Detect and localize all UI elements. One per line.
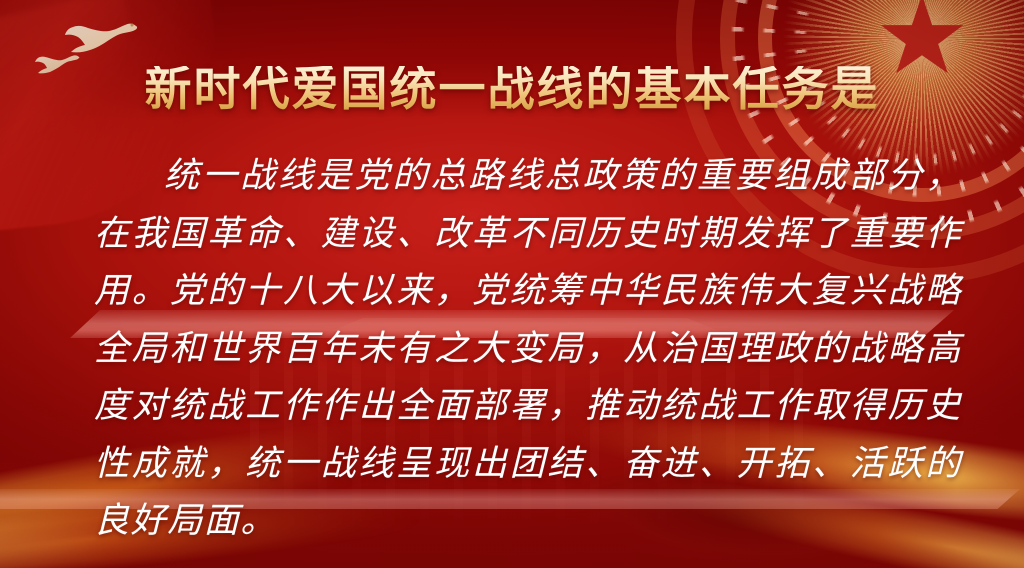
body-paragraph-text: 统一战线是党的总路线总政策的重要组成部分，在我国革命、建设、改革不同历史时期发挥… [94, 148, 962, 551]
poster-canvas: 新时代爱国统一战线的基本任务是 统一战线是党的总路线总政策的重要组成部分，在我国… [0, 0, 1024, 568]
body-paragraph: 统一战线是党的总路线总政策的重要组成部分，在我国革命、建设、改革不同历史时期发挥… [94, 148, 962, 551]
page-title: 新时代爱国统一战线的基本任务是 [0, 66, 1024, 113]
text-content: 新时代爱国统一战线的基本任务是 统一战线是党的总路线总政策的重要组成部分，在我国… [0, 0, 1024, 568]
